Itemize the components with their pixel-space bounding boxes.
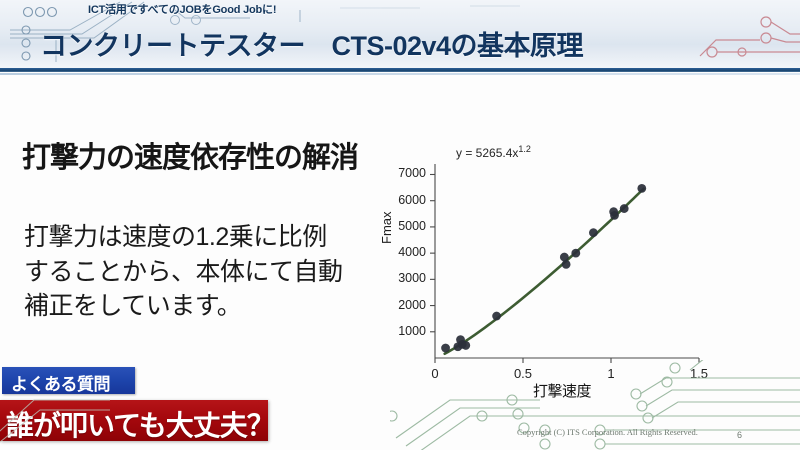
chart-x-tick-label: 1 bbox=[596, 366, 626, 381]
header-underline bbox=[0, 68, 800, 72]
slide: ICT活用ですべてのJOBをGood Jobに! コンクリートテスター CTS-… bbox=[0, 0, 800, 450]
faq-question-text: 誰が叩いても大丈夫？ bbox=[6, 404, 274, 444]
page-title: コンクリートテスター CTS-02v4の基本原理 bbox=[40, 24, 583, 63]
page-number: 6 bbox=[737, 430, 742, 440]
faq-label-text: よくある質問 bbox=[11, 370, 110, 395]
chart-x-tick-label: 0 bbox=[420, 366, 450, 381]
faq-label-banner: よくある質問 bbox=[2, 367, 135, 394]
slide-header: ICT活用ですべてのJOBをGood Jobに! コンクリートテスター CTS-… bbox=[0, 0, 800, 72]
copyright-text: Copyright (C) ITS Corporation. All Right… bbox=[517, 427, 698, 437]
header-underline-soft bbox=[0, 73, 800, 75]
body-line-3: 補正をしています。 bbox=[24, 289, 394, 324]
body-line-2: することから、本体にて自動 bbox=[24, 255, 394, 290]
chart-x-tick-label: 0.5 bbox=[508, 366, 538, 381]
chart-y-tick-label: 5000 bbox=[388, 219, 426, 233]
chart-y-tick-label: 7000 bbox=[388, 166, 426, 180]
body-line-1: 打撃力は速度の1.2乗に比例 bbox=[24, 220, 394, 255]
chart-y-tick-label: 4000 bbox=[388, 245, 426, 259]
lead-heading: 打撃力の速度依存性の解消 bbox=[22, 134, 358, 176]
header-tagline: ICT活用ですべてのJOBをGood Jobに! bbox=[88, 1, 276, 17]
faq-question-banner: 誰が叩いても大丈夫？ bbox=[0, 400, 268, 441]
body-paragraph: 打撃力は速度の1.2乗に比例 することから、本体にて自動 補正をしています。 bbox=[24, 220, 394, 324]
chart-y-tick-label: 6000 bbox=[388, 193, 426, 207]
chart-y-tick-label: 1000 bbox=[388, 324, 426, 338]
scatter-chart: y = 5265.4x1.2 Fmax 打撃速度 100020003000400… bbox=[383, 140, 713, 408]
chart-y-tick-label: 2000 bbox=[388, 298, 426, 312]
chart-y-tick-label: 3000 bbox=[388, 271, 426, 285]
chart-x-tick-label: 1.5 bbox=[684, 366, 714, 381]
